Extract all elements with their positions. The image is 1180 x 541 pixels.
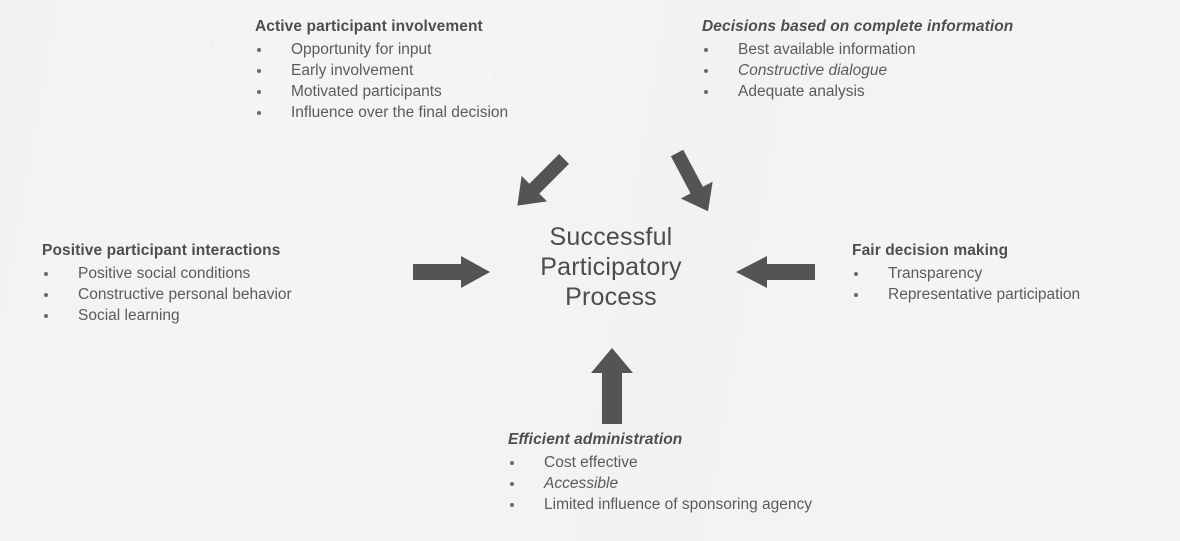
list-item: Cost effective — [508, 452, 812, 473]
list-item: Social learning — [42, 305, 292, 326]
list-item-label: Constructive dialogue — [738, 62, 887, 79]
list-item-label: Transparency — [888, 265, 982, 282]
list-item: Constructive personal behavior — [42, 284, 292, 305]
list-item: Accessible — [508, 473, 812, 494]
list-item-label: Influence over the final decision — [291, 104, 508, 121]
center-label-line-3: Process — [506, 282, 716, 312]
bullet-dot-icon — [704, 48, 708, 52]
center-label: Successful Participatory Process — [506, 222, 716, 312]
list-item-label: Opportunity for input — [291, 41, 431, 58]
list-item: Early involvement — [255, 60, 508, 81]
block-heading: Fair decision making — [852, 242, 1080, 260]
list-item-label: Adequate analysis — [738, 83, 865, 100]
block-active-participant-involvement: Active participant involvement Opportuni… — [255, 18, 508, 123]
list-item: Constructive dialogue — [702, 60, 1013, 81]
bullet-dot-icon — [704, 90, 708, 94]
bullet-dot-icon — [854, 272, 858, 276]
block-bullet-list: Opportunity for input Early involvement … — [255, 39, 508, 123]
center-label-line-2: Participatory — [506, 252, 716, 282]
block-fair-decision-making: Fair decision making Transparency Repres… — [852, 242, 1080, 305]
arrow-from-positive-participant-interactions — [413, 255, 491, 289]
list-item: Motivated participants — [255, 81, 508, 102]
list-item-label: Positive social conditions — [78, 265, 250, 282]
bullet-dot-icon — [510, 503, 514, 507]
bullet-dot-icon — [257, 90, 261, 94]
bullet-dot-icon — [510, 461, 514, 465]
bullet-dot-icon — [44, 272, 48, 276]
block-bullet-list: Best available information Constructive … — [702, 39, 1013, 102]
block-positive-participant-interactions: Positive participant interactions Positi… — [42, 242, 292, 326]
arrow-from-decisions-based-on-complete-information — [653, 143, 733, 223]
list-item-label: Best available information — [738, 41, 916, 58]
list-item: Positive social conditions — [42, 263, 292, 284]
list-item-label: Accessible — [544, 475, 618, 492]
block-heading: Positive participant interactions — [42, 242, 292, 260]
bullet-dot-icon — [854, 293, 858, 297]
block-decisions-based-on-complete-information: Decisions based on complete information … — [702, 18, 1013, 102]
list-item: Influence over the final decision — [255, 102, 508, 123]
bullet-dot-icon — [510, 482, 514, 486]
diagram-canvas: Active participant involvement Opportuni… — [0, 0, 1180, 541]
center-label-line-1: Successful — [506, 222, 716, 252]
bullet-dot-icon — [257, 69, 261, 73]
list-item-label: Limited influence of sponsoring agency — [544, 496, 812, 513]
arrow-from-fair-decision-making — [734, 255, 816, 289]
list-item-label: Constructive personal behavior — [78, 286, 292, 303]
bullet-dot-icon — [257, 111, 261, 115]
block-bullet-list: Positive social conditions Constructive … — [42, 263, 292, 326]
list-item: Limited influence of sponsoring agency — [508, 494, 812, 515]
list-item-label: Cost effective — [544, 454, 638, 471]
list-item: Transparency — [852, 263, 1080, 284]
bullet-dot-icon — [704, 69, 708, 73]
list-item: Adequate analysis — [702, 81, 1013, 102]
list-item-label: Early involvement — [291, 62, 413, 79]
block-heading: Efficient administration — [508, 431, 812, 449]
bullet-dot-icon — [44, 293, 48, 297]
bullet-dot-icon — [44, 314, 48, 318]
list-item: Opportunity for input — [255, 39, 508, 60]
bullet-dot-icon — [257, 48, 261, 52]
block-bullet-list: Cost effective Accessible Limited influe… — [508, 452, 812, 515]
list-item: Best available information — [702, 39, 1013, 60]
arrow-from-efficient-administration — [589, 347, 635, 425]
list-item: Representative participation — [852, 284, 1080, 305]
block-heading: Decisions based on complete information — [702, 18, 1013, 36]
block-heading: Active participant involvement — [255, 18, 508, 36]
block-efficient-administration: Efficient administration Cost effective … — [508, 431, 812, 515]
list-item-label: Motivated participants — [291, 83, 442, 100]
block-bullet-list: Transparency Representative participatio… — [852, 263, 1080, 305]
list-item-label: Representative participation — [888, 286, 1080, 303]
list-item-label: Social learning — [78, 307, 180, 324]
arrow-from-active-participant-involvement — [500, 143, 580, 223]
